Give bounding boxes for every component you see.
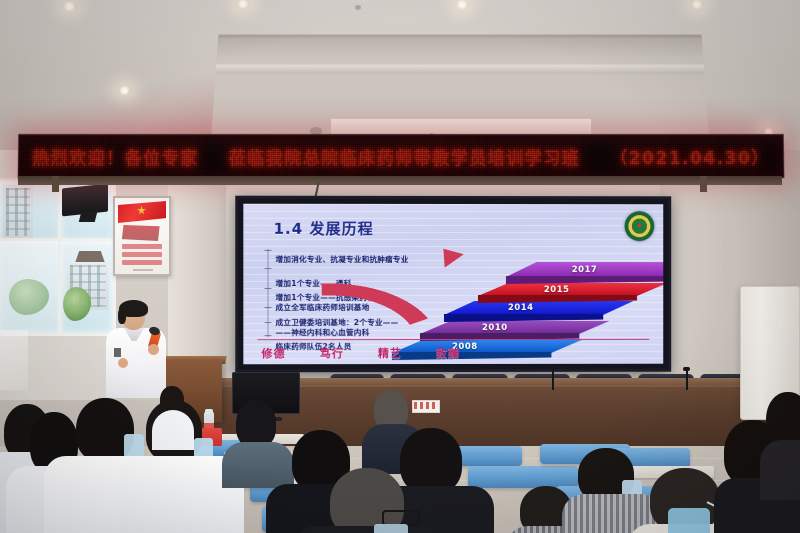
axis-tick xyxy=(264,307,271,308)
led-text-segment-1: 热烈欢迎！各位专家 xyxy=(32,144,199,169)
bar-label-2014: 2014 xyxy=(508,303,534,313)
axis-tick xyxy=(264,288,271,289)
downlight xyxy=(62,2,77,11)
hospital-emblem-logo xyxy=(624,211,654,241)
slogan-word-3: 精艺 xyxy=(378,345,402,361)
axis-tick xyxy=(264,268,271,269)
slide-title: 1.4 发展历程 xyxy=(274,218,374,239)
face-mask xyxy=(124,434,144,458)
ceiling-vent xyxy=(355,5,361,10)
bar-label-2010: 2010 xyxy=(482,323,508,333)
chart-bar-2010: 2010 xyxy=(420,321,610,334)
face-mask xyxy=(374,524,408,533)
axis-tick xyxy=(264,322,271,323)
axis-tick xyxy=(264,335,271,336)
downlight xyxy=(236,0,250,8)
presenter-badge xyxy=(114,348,121,357)
poster-row xyxy=(122,252,162,257)
person-head xyxy=(236,400,276,448)
bar-label-2015: 2015 xyxy=(544,285,570,295)
led-text-segment-3: （2021.04.30） xyxy=(610,144,770,169)
downlight xyxy=(455,0,469,9)
wall-light-reflection xyxy=(0,330,28,390)
bar-top-face xyxy=(420,321,610,334)
poster-headline xyxy=(121,225,163,241)
bar-top-face xyxy=(478,283,663,296)
poster-row xyxy=(122,260,162,265)
led-text-segment-2: 莅临我院总院临床药师带教学员培训学习班 xyxy=(229,144,581,169)
outside-tree xyxy=(63,287,91,321)
slide-footer-slogan: 修德 笃行 精艺 致臻 xyxy=(261,345,591,361)
led-banner-frame xyxy=(18,176,782,185)
downlight xyxy=(690,0,704,9)
ceiling xyxy=(0,0,800,150)
person-body xyxy=(294,526,444,533)
slogan-word-2: 笃行 xyxy=(320,345,344,361)
wall-pillar xyxy=(168,150,226,390)
name-card-text xyxy=(414,402,436,409)
projection-screen: 1.4 发展历程 增加消化专业、抗凝专业和抗肿瘤专业 增加1个专业——通科 增加… xyxy=(235,196,671,373)
downlight xyxy=(118,86,131,95)
poster-fine-print xyxy=(133,269,153,271)
person-body xyxy=(760,440,800,500)
speaker-bracket xyxy=(79,212,97,222)
slide-timeline-axis xyxy=(267,249,268,337)
person-body xyxy=(152,410,194,450)
desk-microphone-stand xyxy=(686,370,688,390)
wall-poster xyxy=(113,196,171,276)
chart-bar-2017: 2017 xyxy=(506,262,663,277)
chart-bar-2015: 2015 xyxy=(478,283,663,296)
axis-tick xyxy=(264,250,271,251)
arrow-head-icon xyxy=(443,247,464,267)
presenter-right-hand xyxy=(148,344,159,355)
led-banner-text: 热烈欢迎！各位专家 莅临我院总院临床药师带教学员培训学习班 （2021.04.3… xyxy=(19,135,784,177)
led-banner-support xyxy=(700,176,707,192)
person-head xyxy=(400,428,462,494)
slogan-word-1: 修德 xyxy=(261,345,285,361)
lecture-hall-photo: 热烈欢迎！各位专家 莅临我院总院临床药师带教学员培训学习班 （2021.04.3… xyxy=(0,0,800,533)
led-banner-support xyxy=(52,176,59,192)
presenter-left-hand xyxy=(118,358,128,368)
slogan-word-4: 致臻 xyxy=(436,345,460,361)
presenter-hair-side xyxy=(118,308,126,324)
desk-microphone-stand xyxy=(552,368,554,390)
person-body xyxy=(222,442,294,488)
window-lower-left xyxy=(0,238,64,336)
desk-microphone-head xyxy=(549,365,556,369)
desk-microphone-head xyxy=(683,367,690,371)
presenter xyxy=(104,300,170,398)
outside-building xyxy=(3,185,33,239)
presentation-slide: 1.4 发展历程 增加消化专业、抗凝专业和抗肿瘤专业 增加1个专业——通科 增加… xyxy=(243,204,663,365)
bottle-cap xyxy=(205,409,213,414)
audience-chair[interactable] xyxy=(468,466,578,488)
bar-label-2017: 2017 xyxy=(572,265,598,275)
face-mask xyxy=(668,508,710,533)
led-scrolling-banner: 热烈欢迎！各位专家 莅临我院总院临床药师带教学员培训学习班 （2021.04.3… xyxy=(18,134,785,178)
poster-row xyxy=(122,244,162,249)
